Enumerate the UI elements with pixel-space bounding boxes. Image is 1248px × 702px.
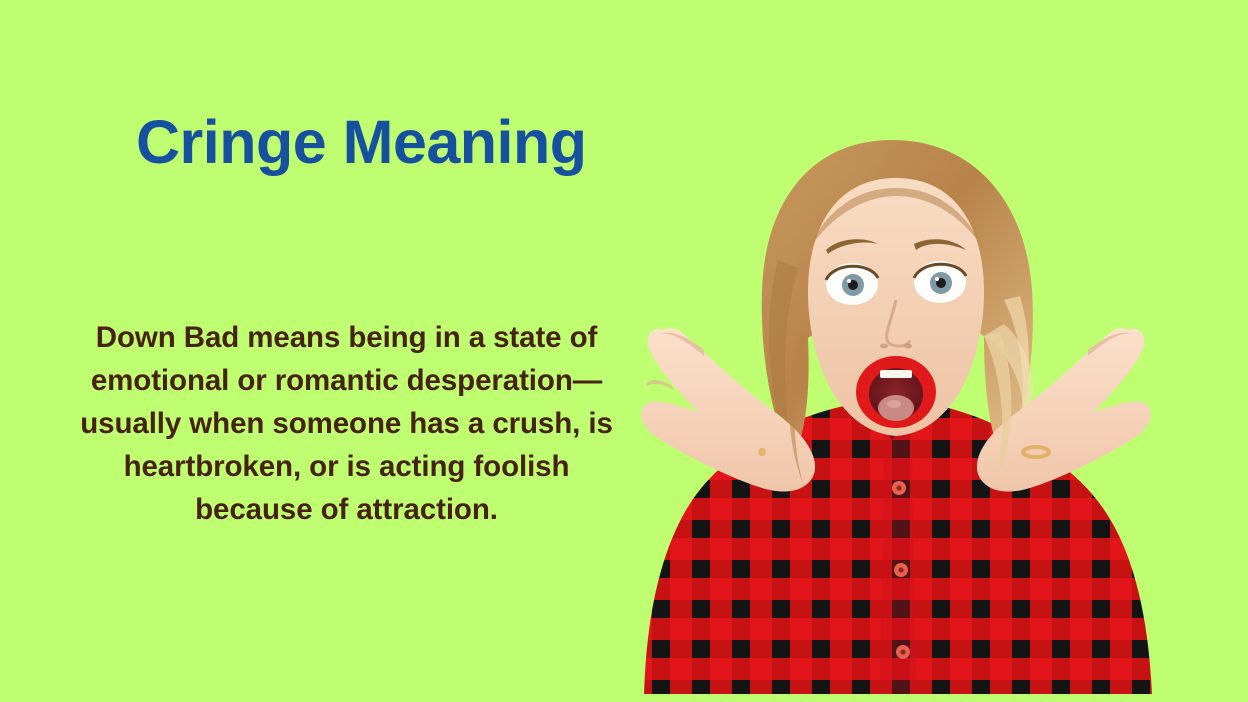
subject-photo bbox=[612, 0, 1172, 694]
text-column: Cringe Meaning Down Bad means being in a… bbox=[74, 110, 619, 610]
slide-canvas: Cringe Meaning Down Bad means being in a… bbox=[0, 0, 1248, 702]
woman-illustration bbox=[612, 0, 1172, 694]
page-title: Cringe Meaning bbox=[136, 110, 619, 174]
face bbox=[808, 178, 984, 436]
mouth bbox=[856, 356, 936, 428]
body-paragraph: Down Bad means being in a state of emoti… bbox=[74, 316, 619, 531]
